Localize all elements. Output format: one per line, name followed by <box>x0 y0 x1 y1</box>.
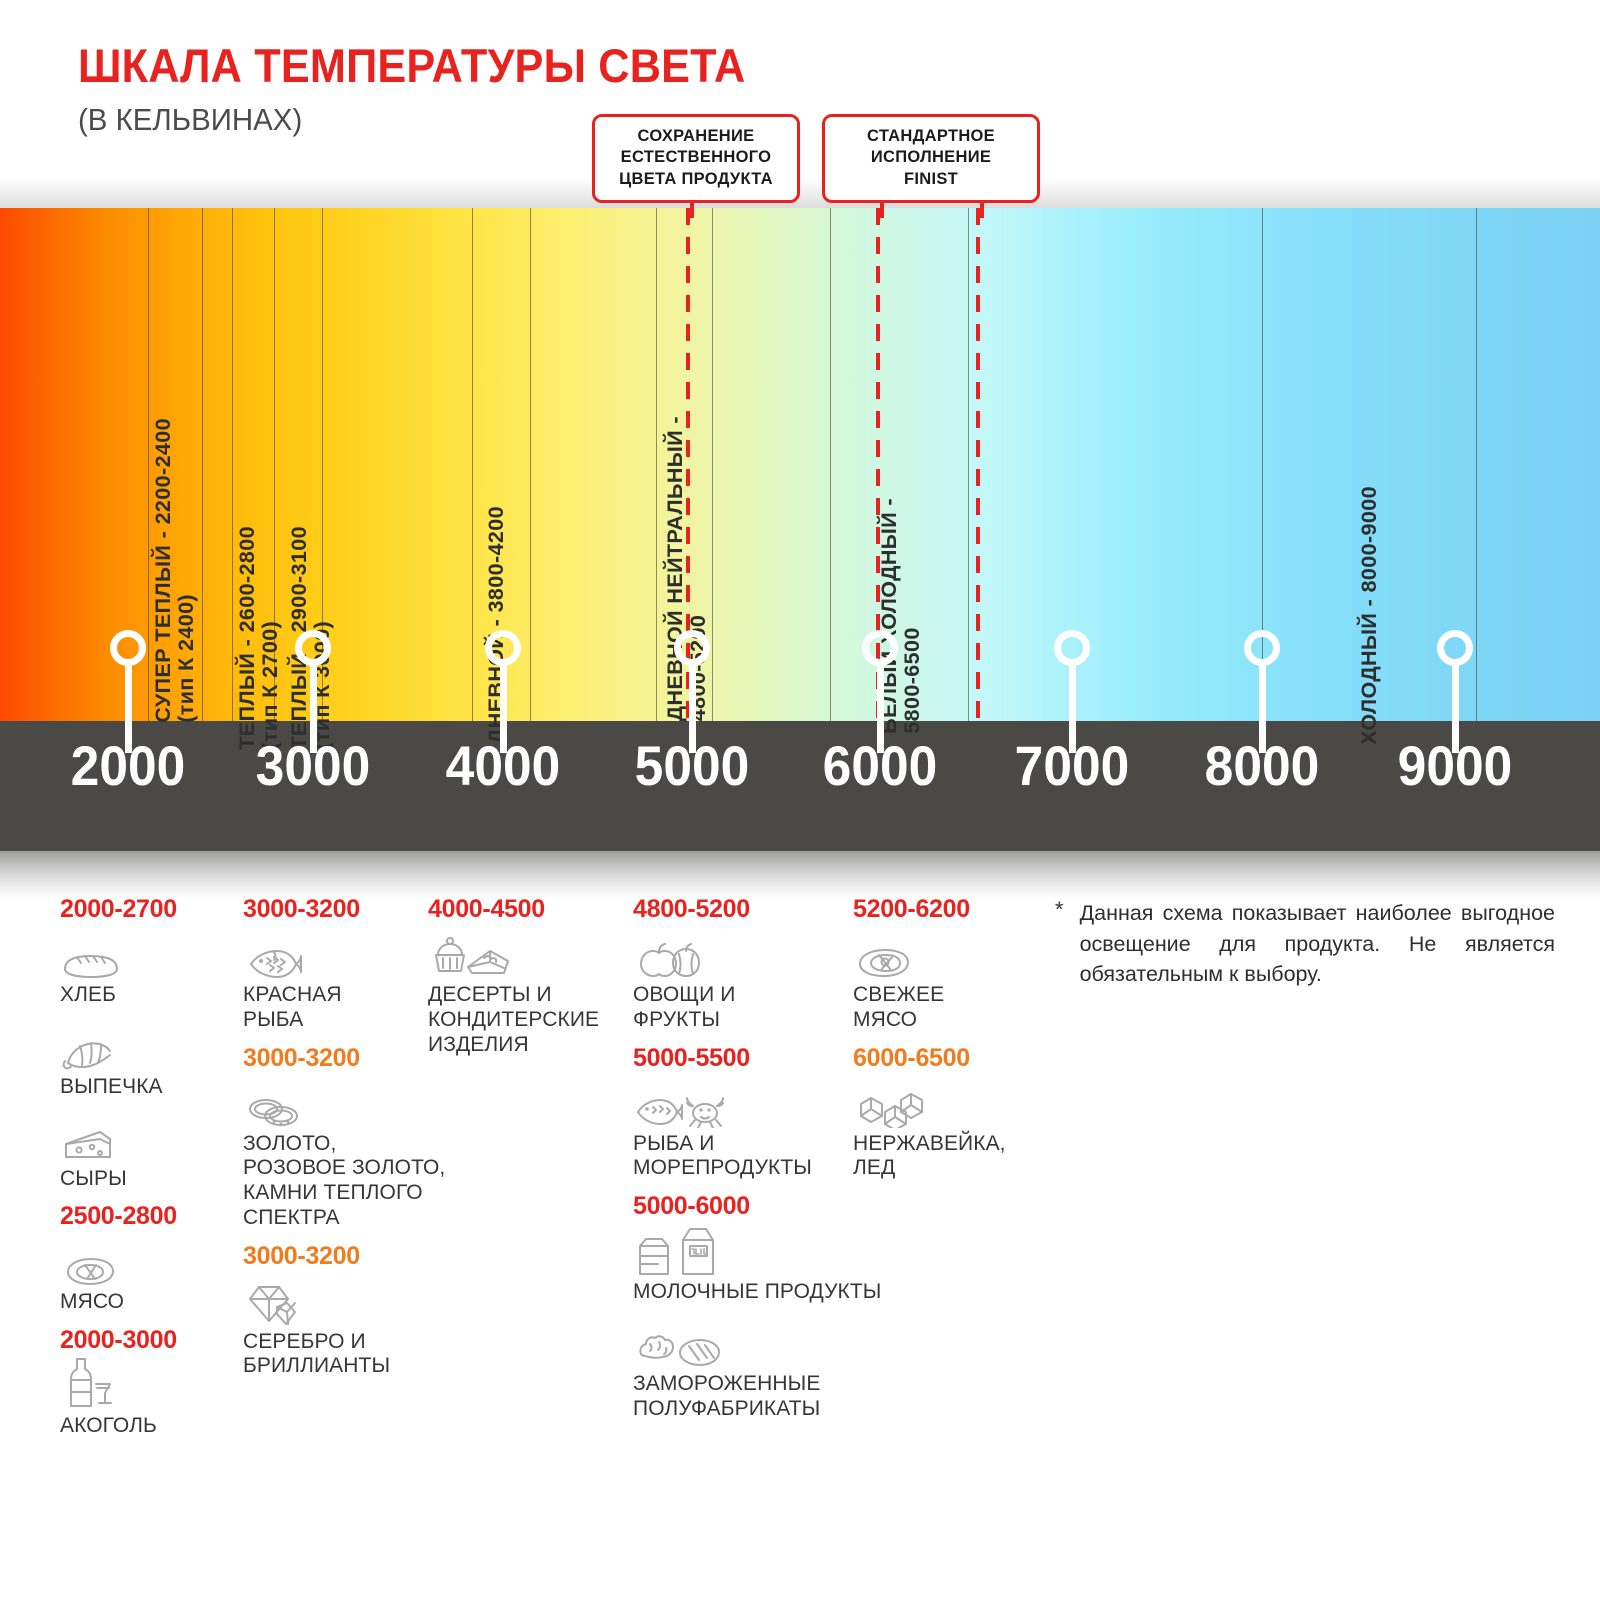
legend-item-label: СЕРЕБРО И БРИЛЛИАНТЫ <box>243 1330 445 1380</box>
legend-item: ЗАМОРОЖЕННЫЕ ПОЛУФАБРИКАТЫ <box>633 1316 882 1422</box>
legend-range-label: 2000-3000 <box>60 1326 177 1355</box>
ice-cubes-icon <box>853 1076 1006 1128</box>
scale-top-shadow <box>0 178 1600 208</box>
zone-label-cold: ХОЛОДНЫЙ - 8000-9000 <box>1358 486 1381 745</box>
legend-item: МОЛОЧНЫЕ ПРОДУКТЫ <box>633 1224 882 1305</box>
legend-range-label: 5200-6200 <box>853 895 1006 924</box>
legend-item-label: ЗОЛОТО, РОЗОВОЕ ЗОЛОТО, КАМНИ ТЕПЛОГО СП… <box>243 1132 445 1231</box>
croissant-icon <box>60 1019 177 1071</box>
marker-ring-icon <box>110 630 146 666</box>
legend-range-label: 5000-6000 <box>633 1192 882 1221</box>
milk-carton-icon <box>633 1224 882 1276</box>
scale-divider <box>202 208 203 721</box>
tick-number-2000: 2000 <box>45 733 211 798</box>
tick-number-7000: 7000 <box>989 733 1155 798</box>
tick-number-9000: 9000 <box>1372 733 1538 798</box>
column-4800-5200: 4800-5200ОВОЩИ И ФРУКТЫ5000-5500РЫБА И М… <box>633 895 882 1432</box>
legend-group: 2000-2700ХЛЕБВЫПЕЧКАСЫРЫ <box>60 895 177 1191</box>
temperature-scale: СУПЕР ТЕПЛЫЙ - 2200-2400 (тип К 2400)ТЕП… <box>0 178 1600 878</box>
legend-item-label: СВЕЖЕЕ МЯСО <box>853 983 1006 1033</box>
legend-range-label: 4000-4500 <box>428 895 599 924</box>
legend-group: 3000-3200КРАСНАЯ РЫБА <box>243 895 445 1033</box>
legend-item-label: ВЫПЕЧКА <box>60 1075 177 1100</box>
tick-number-6000: 6000 <box>797 733 963 798</box>
legend-group: 2000-3000АКОГОЛЬ <box>60 1326 177 1439</box>
legend-group: 3000-3200ЗОЛОТО, РОЗОВОЕ ЗОЛОТО, КАМНИ Т… <box>243 1044 445 1231</box>
callout-finist-standard: СТАНДАРТНОЕ ИСПОЛНЕНИЕ FINIST <box>822 114 1040 203</box>
callout-natural-color: СОХРАНЕНИЕ ЕСТЕСТВЕННОГО ЦВЕТА ПРОДУКТА <box>592 114 800 203</box>
scale-dashed-marker <box>976 208 980 721</box>
legend-item: ДЕСЕРТЫ И КОНДИТЕРСКИЕ ИЗДЕЛИЯ <box>428 927 599 1057</box>
legend-item-label: НЕРЖАВЕЙКА, ЛЕД <box>853 1132 1006 1182</box>
scale-divider <box>472 208 473 721</box>
scale-divider <box>830 208 831 721</box>
legend-item: СЕРЕБРО И БРИЛЛИАНТЫ <box>243 1274 445 1380</box>
scale-divider <box>530 208 531 721</box>
legend-item: МЯСО <box>60 1234 177 1315</box>
legend-item: КРАСНАЯ РЫБА <box>243 927 445 1033</box>
alcohol-bottle-glass-icon <box>60 1358 177 1410</box>
scale-bottom-shadow <box>0 851 1600 899</box>
scale-divider <box>968 208 969 721</box>
marker-ring-icon <box>1054 630 1090 666</box>
marker-ring-icon <box>1244 630 1280 666</box>
marker-ring-icon <box>862 630 898 666</box>
legend-item-label: СЫРЫ <box>60 1167 177 1192</box>
legend-group: 2500-2800МЯСО <box>60 1202 177 1315</box>
marker-ring-icon <box>485 630 521 666</box>
cheese-icon <box>60 1111 177 1163</box>
column-5200-6200: 5200-6200СВЕЖЕЕ МЯСО6000-6500НЕРЖАВЕЙКА,… <box>853 895 1006 1192</box>
fruit-vegetable-icon <box>633 927 882 979</box>
zone-label-warm-2700: ТЕПЛЫЙ - 2600-2800 (тип К 2700) <box>236 526 282 750</box>
cupcake-cake-icon <box>428 927 599 979</box>
page-title: ШКАЛА ТЕМПЕРАТУРЫ СВЕТА <box>78 38 745 93</box>
legend-range-label: 6000-6500 <box>853 1044 1006 1073</box>
scale-divider <box>712 208 713 721</box>
diamond-icon <box>243 1274 445 1326</box>
bread-icon <box>60 927 177 979</box>
legend-range-label: 2500-2800 <box>60 1202 177 1231</box>
legend-item: СЫРЫ <box>60 1111 177 1192</box>
legend-group: 3000-3200СЕРЕБРО И БРИЛЛИАНТЫ <box>243 1242 445 1380</box>
legend-range-label: 3000-3200 <box>243 1044 445 1073</box>
legend-group: 5000-6000МОЛОЧНЫЕ ПРОДУКТЫЗАМОРОЖЕННЫЕ П… <box>633 1192 882 1421</box>
marker-ring-icon <box>295 630 331 666</box>
zone-label-super-warm: СУПЕР ТЕПЛЫЙ - 2200-2400 (тип К 2400) <box>152 418 198 723</box>
legend-item: РЫБА И МОРЕПРОДУКТЫ <box>633 1076 882 1182</box>
legend-item-label: ХЛЕБ <box>60 983 177 1008</box>
legend-range-label: 4800-5200 <box>633 895 882 924</box>
legend-item-label: ДЕСЕРТЫ И КОНДИТЕРСКИЕ ИЗДЕЛИЯ <box>428 983 599 1057</box>
legend-group: 6000-6500НЕРЖАВЕЙКА, ЛЕД <box>853 1044 1006 1182</box>
legend-range-label: 5000-5500 <box>633 1044 882 1073</box>
footnote: * Данная схема показывает наиболее выгод… <box>1055 898 1555 990</box>
legend-item-label: ОВОЩИ И ФРУКТЫ <box>633 983 882 1033</box>
legend-range-label: 2000-2700 <box>60 895 177 924</box>
tick-number-4000: 4000 <box>420 733 586 798</box>
legend-item-label: ЗАМОРОЖЕННЫЕ ПОЛУФАБРИКАТЫ <box>633 1372 882 1422</box>
scale-divider <box>148 208 149 721</box>
tick-number-5000: 5000 <box>609 733 775 798</box>
steak-icon <box>60 1234 177 1286</box>
legend-item: ВЫПЕЧКА <box>60 1019 177 1100</box>
legend-item: ОВОЩИ И ФРУКТЫ <box>633 927 882 1033</box>
footnote-asterisk: * <box>1055 898 1064 990</box>
frozen-food-icon <box>633 1316 882 1368</box>
scale-divider <box>656 208 657 721</box>
legend-item-label: АКОГОЛЬ <box>60 1414 177 1439</box>
gold-rings-icon <box>243 1076 445 1128</box>
legend-group: 4800-5200ОВОЩИ И ФРУКТЫ <box>633 895 882 1033</box>
footnote-text: Данная схема показывает наиболее выгодно… <box>1080 898 1555 990</box>
column-2000-2700: 2000-2700ХЛЕБВЫПЕЧКАСЫРЫ2500-2800МЯСО200… <box>60 895 177 1450</box>
scale-divider <box>1476 208 1477 721</box>
marker-ring-icon <box>1437 630 1473 666</box>
red-fish-icon <box>243 927 445 979</box>
legend-range-label: 3000-3200 <box>243 1242 445 1271</box>
legend-group: 5000-5500РЫБА И МОРЕПРОДУКТЫ <box>633 1044 882 1182</box>
legend-item: ХЛЕБ <box>60 927 177 1008</box>
zone-label-white-cold: БЕЛЫЙ ХОЛОДНЫЙ - 5800-6500 <box>878 498 924 734</box>
legend-item-label: МОЛОЧНЫЕ ПРОДУКТЫ <box>633 1280 882 1305</box>
legend-item-label: МЯСО <box>60 1290 177 1315</box>
legend-item-label: КРАСНАЯ РЫБА <box>243 983 445 1033</box>
tick-number-3000: 3000 <box>230 733 396 798</box>
legend-item: СВЕЖЕЕ МЯСО <box>853 927 1006 1033</box>
fish-crab-icon <box>633 1076 882 1128</box>
legend-group: 5200-6200СВЕЖЕЕ МЯСО <box>853 895 1006 1033</box>
column-3000-3200: 3000-3200КРАСНАЯ РЫБА3000-3200ЗОЛОТО, РО… <box>243 895 445 1390</box>
marker-ring-icon <box>674 630 710 666</box>
legend-range-label: 3000-3200 <box>243 895 445 924</box>
fresh-meat-icon <box>853 927 1006 979</box>
legend-item: АКОГОЛЬ <box>60 1358 177 1439</box>
legend-item: НЕРЖАВЕЙКА, ЛЕД <box>853 1076 1006 1182</box>
tick-number-8000: 8000 <box>1179 733 1345 798</box>
legend-item-label: РЫБА И МОРЕПРОДУКТЫ <box>633 1132 882 1182</box>
legend-item: ЗОЛОТО, РОЗОВОЕ ЗОЛОТО, КАМНИ ТЕПЛОГО СП… <box>243 1076 445 1231</box>
scale-divider <box>232 208 233 721</box>
legend-group: 4000-4500ДЕСЕРТЫ И КОНДИТЕРСКИЕ ИЗДЕЛИЯ <box>428 895 599 1057</box>
column-4000-4500: 4000-4500ДЕСЕРТЫ И КОНДИТЕРСКИЕ ИЗДЕЛИЯ <box>428 895 599 1068</box>
